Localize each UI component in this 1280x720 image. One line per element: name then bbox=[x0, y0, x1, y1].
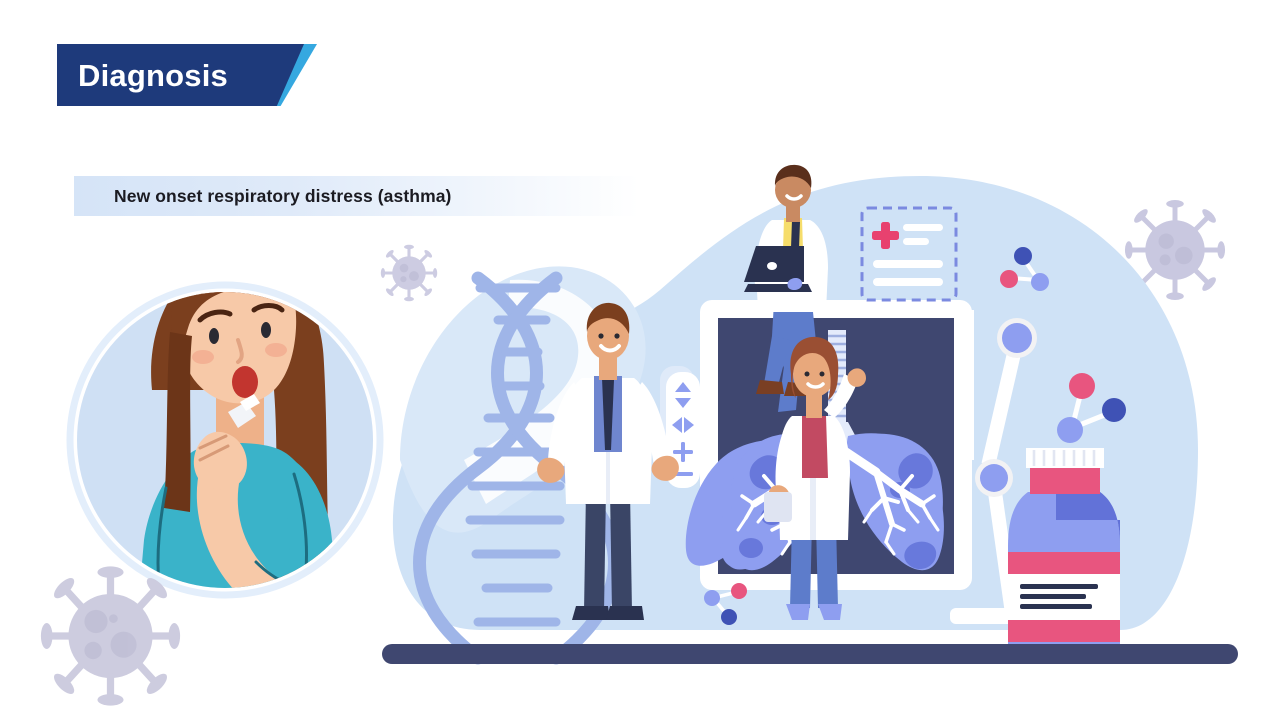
bottle-neck bbox=[1030, 466, 1100, 494]
patient-cheek-right bbox=[265, 343, 287, 357]
patient-cheek-left bbox=[192, 350, 214, 364]
title-banner: Diagnosis bbox=[57, 44, 317, 106]
atom-2 bbox=[1102, 398, 1126, 422]
atom-3 bbox=[721, 609, 737, 625]
male-eye-left bbox=[598, 333, 603, 338]
patient-eye-left bbox=[209, 328, 219, 344]
virus-particle-bottom-left bbox=[38, 562, 183, 710]
atom-1 bbox=[704, 590, 720, 606]
virus-particle-mid-left bbox=[381, 245, 437, 301]
laptop-logo bbox=[767, 262, 777, 270]
medical-scene-illustration bbox=[360, 160, 1260, 690]
female-clipboard bbox=[764, 492, 792, 522]
arm-joint-upper bbox=[1002, 323, 1032, 353]
bottle-cap-ridges bbox=[1034, 450, 1094, 466]
seated-shoe-left bbox=[756, 380, 784, 394]
atom-3 bbox=[1031, 273, 1049, 291]
male-shoe-left bbox=[572, 606, 610, 620]
page-title: Diagnosis bbox=[57, 60, 228, 91]
male-pants-right bbox=[610, 490, 632, 612]
banner-body: Diagnosis bbox=[57, 44, 304, 106]
atom-2 bbox=[1000, 270, 1018, 288]
atom-3 bbox=[1057, 417, 1083, 443]
bottle-band-upper bbox=[1008, 552, 1120, 574]
female-eye-right bbox=[820, 372, 825, 377]
bottle-band-lower bbox=[1008, 620, 1120, 642]
female-top bbox=[802, 416, 828, 478]
atom-1 bbox=[1014, 247, 1032, 265]
patient-eye-right bbox=[261, 322, 271, 338]
patient-mouth bbox=[232, 366, 258, 398]
slide-canvas: Diagnosis New onset respiratory distress… bbox=[0, 0, 1280, 720]
female-neck bbox=[806, 394, 822, 418]
male-pants-left bbox=[584, 490, 606, 612]
atom-2 bbox=[731, 583, 747, 599]
arm-joint-lower bbox=[980, 464, 1008, 492]
female-eye-left bbox=[805, 372, 810, 377]
ground-bar bbox=[382, 644, 1238, 664]
male-shoe-right bbox=[606, 606, 644, 620]
atom-1 bbox=[1069, 373, 1095, 399]
male-eye-right bbox=[614, 333, 619, 338]
